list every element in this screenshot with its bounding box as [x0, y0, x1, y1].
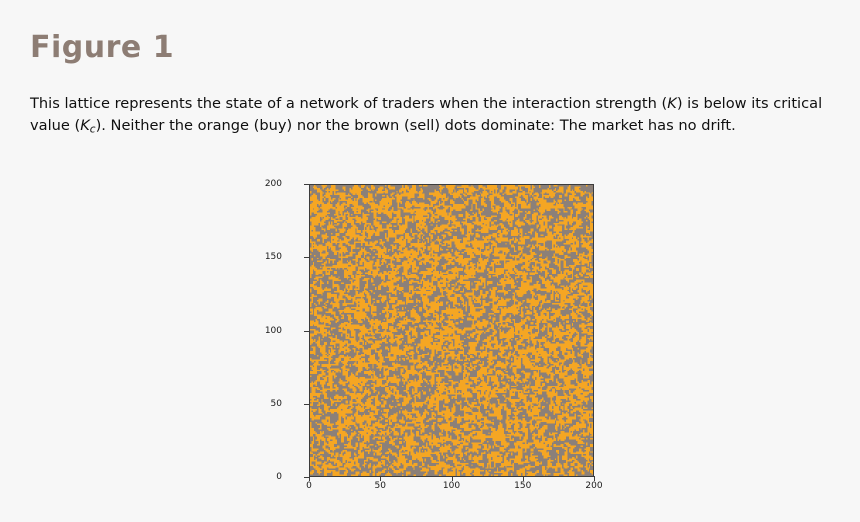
caption-symbol-kc: K	[80, 117, 90, 134]
lattice-heatmap	[310, 185, 593, 476]
x-axis-tick-mark	[380, 476, 381, 481]
y-axis-tick-label: 200	[222, 179, 282, 189]
x-axis-tick-label: 150	[493, 481, 553, 491]
y-axis-tick-label: 150	[222, 252, 282, 262]
caption-symbol-k: K	[667, 95, 677, 112]
figure-panel: Figure 1 This lattice represents the sta…	[0, 0, 860, 522]
x-axis-tick-mark	[523, 476, 524, 481]
x-axis-tick-label: 200	[564, 481, 624, 491]
x-axis-tick-mark	[452, 476, 453, 481]
y-axis-tick-label: 0	[222, 472, 282, 482]
lattice-chart: 050100150200050100150200	[283, 176, 613, 496]
caption-text-part1: This lattice represents the state of a n…	[30, 95, 667, 112]
y-axis-tick-mark	[304, 184, 309, 185]
x-axis-tick-label: 0	[279, 481, 339, 491]
figure-caption: This lattice represents the state of a n…	[30, 93, 836, 140]
y-axis-tick-mark	[304, 331, 309, 332]
y-axis-tick-label: 50	[222, 399, 282, 409]
plot-area	[309, 184, 594, 477]
x-axis-tick-label: 50	[350, 481, 410, 491]
y-axis-tick-mark	[304, 404, 309, 405]
x-axis-tick-mark	[594, 476, 595, 481]
x-axis-tick-mark	[309, 476, 310, 481]
page-title: Figure 1	[30, 33, 174, 63]
y-axis-tick-mark	[304, 257, 309, 258]
caption-text-part3: ). Neither the orange (buy) nor the brow…	[96, 117, 736, 134]
x-axis-tick-label: 100	[422, 481, 482, 491]
y-axis-tick-label: 100	[222, 326, 282, 336]
